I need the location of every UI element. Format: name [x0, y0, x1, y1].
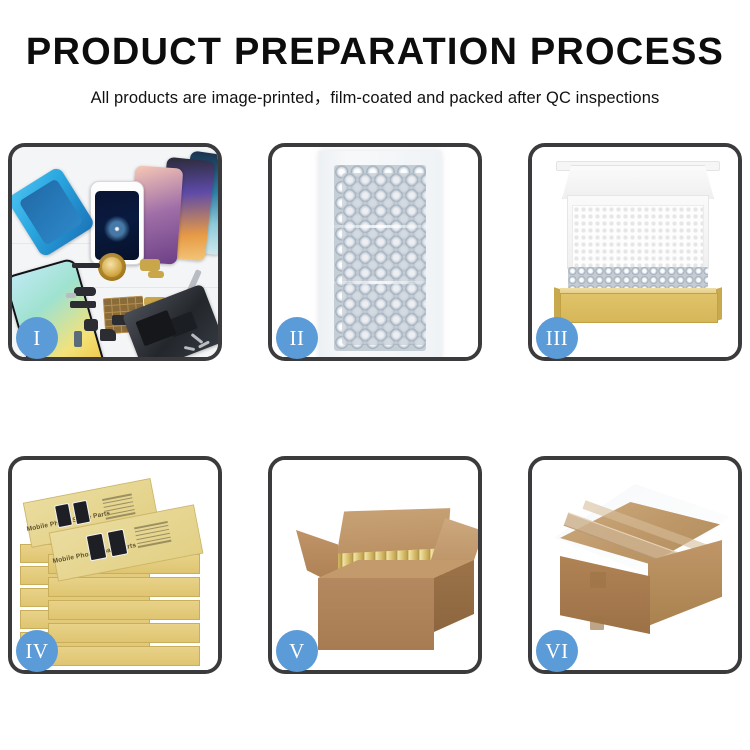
- step-badge-4: IV: [16, 630, 58, 672]
- stacked-box-r2: [48, 577, 200, 597]
- process-steps-grid: I II III: [8, 143, 742, 674]
- stacked-box-r5: [48, 646, 200, 666]
- step-card-1: I: [8, 143, 222, 361]
- page-header: PRODUCT PREPARATION PROCESS All products…: [0, 0, 750, 108]
- foam-sheet: [572, 205, 704, 269]
- small-part-9: [84, 319, 98, 331]
- bubble-wrap-pouch: [319, 151, 441, 357]
- small-part-3: [148, 271, 164, 278]
- step-card-2: II: [268, 143, 482, 361]
- small-part-6: [66, 293, 76, 298]
- small-part-5: [70, 301, 96, 308]
- small-part-11: [74, 331, 82, 347]
- page-subtitle: All products are image-printed，film-coat…: [0, 84, 750, 108]
- page-title: PRODUCT PREPARATION PROCESS: [0, 33, 750, 71]
- small-part-1: [72, 263, 100, 268]
- screen-glass-panel: [90, 181, 144, 265]
- mailer-lid: [562, 165, 714, 199]
- stacked-box-r3: [48, 600, 200, 620]
- small-part-4: [74, 287, 96, 296]
- step-card-4: Mobile Phone Spare Parts Mobile Phone Sp…: [8, 456, 222, 674]
- stacked-box-r4: [48, 623, 200, 643]
- step-card-6: VI: [528, 456, 742, 674]
- bubble-pattern-overlay: [342, 173, 426, 345]
- blue-film-sheet: [12, 166, 96, 258]
- step-badge-3: III: [536, 317, 578, 359]
- small-part-10: [100, 329, 116, 341]
- step-card-3: III: [528, 143, 742, 361]
- step-badge-6: VI: [536, 630, 578, 672]
- carton-hand-hole-top: [590, 572, 606, 588]
- sealed-carton-front: [560, 556, 650, 634]
- step-card-5: V: [268, 456, 482, 674]
- small-part-2: [140, 259, 160, 271]
- step-badge-5: V: [276, 630, 318, 672]
- carton-hand-hole-bottom: [590, 616, 604, 630]
- carton-front-panel: [318, 578, 434, 650]
- mailer-front-panel: [560, 293, 718, 323]
- speaker-coil-part: [98, 253, 126, 281]
- step-badge-1: I: [16, 317, 58, 359]
- step-badge-2: II: [276, 317, 318, 359]
